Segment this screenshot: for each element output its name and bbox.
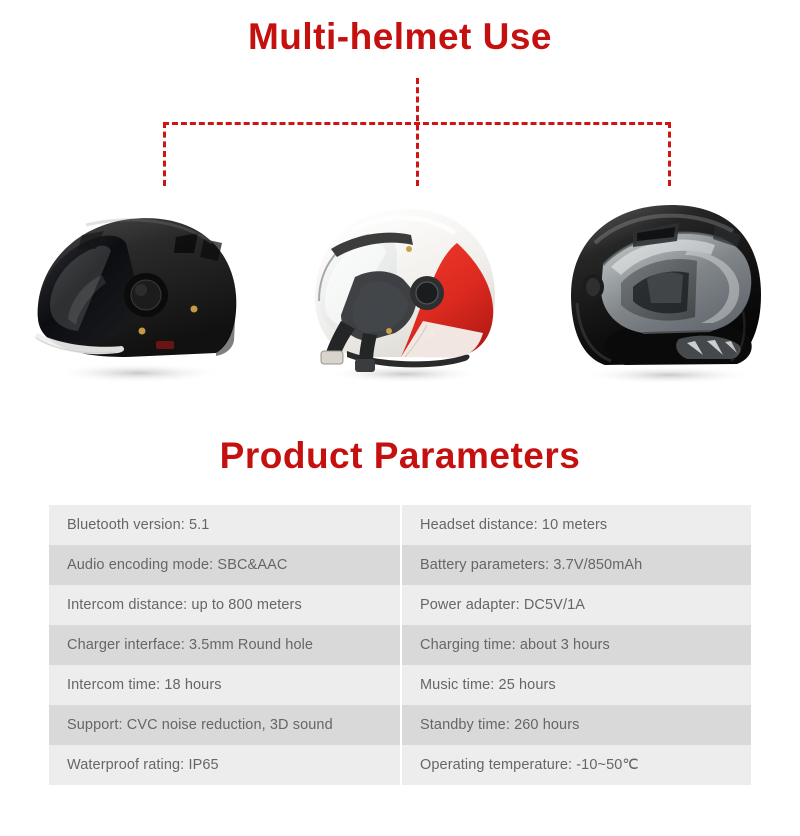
connector-branch-left [163,122,166,186]
table-row: Support: CVC noise reduction, 3D sound [49,705,400,745]
connector-branch-right [668,122,671,186]
table-row: Intercom time: 18 hours [49,665,400,705]
table-row: Headset distance: 10 meters [402,505,751,545]
page-title-product-parameters: Product Parameters [0,437,800,474]
table-row: Audio encoding mode: SBC&AAC [49,545,400,585]
dashed-connector-bracket [163,78,671,186]
helmet-image-full-face-black [542,191,792,386]
table-row: Bluetooth version: 5.1 [49,505,400,545]
table-row: Charger interface: 3.5mm Round hole [49,625,400,665]
table-row: Charging time: about 3 hours [402,625,751,665]
table-row: Standby time: 260 hours [402,705,751,745]
connector-branch-center [416,78,419,186]
helmet-gallery [0,186,800,386]
table-row: Battery parameters: 3.7V/850mAh [402,545,751,585]
table-row: Intercom distance: up to 800 meters [49,585,400,625]
table-row: Waterproof rating: IP65 [49,745,400,785]
table-row: Power adapter: DC5V/1A [402,585,751,625]
page-title-multi-helmet: Multi-helmet Use [0,0,800,55]
product-parameters-table: Bluetooth version: 5.1 Audio encoding mo… [49,505,751,785]
helmet-image-open-face-black [8,191,258,386]
parameters-right-column: Headset distance: 10 meters Battery para… [400,505,751,785]
parameters-left-column: Bluetooth version: 5.1 Audio encoding mo… [49,505,400,785]
helmet-image-jet-white-red [275,191,525,386]
table-row: Operating temperature: -10~50℃ [402,745,751,785]
table-row: Music time: 25 hours [402,665,751,705]
